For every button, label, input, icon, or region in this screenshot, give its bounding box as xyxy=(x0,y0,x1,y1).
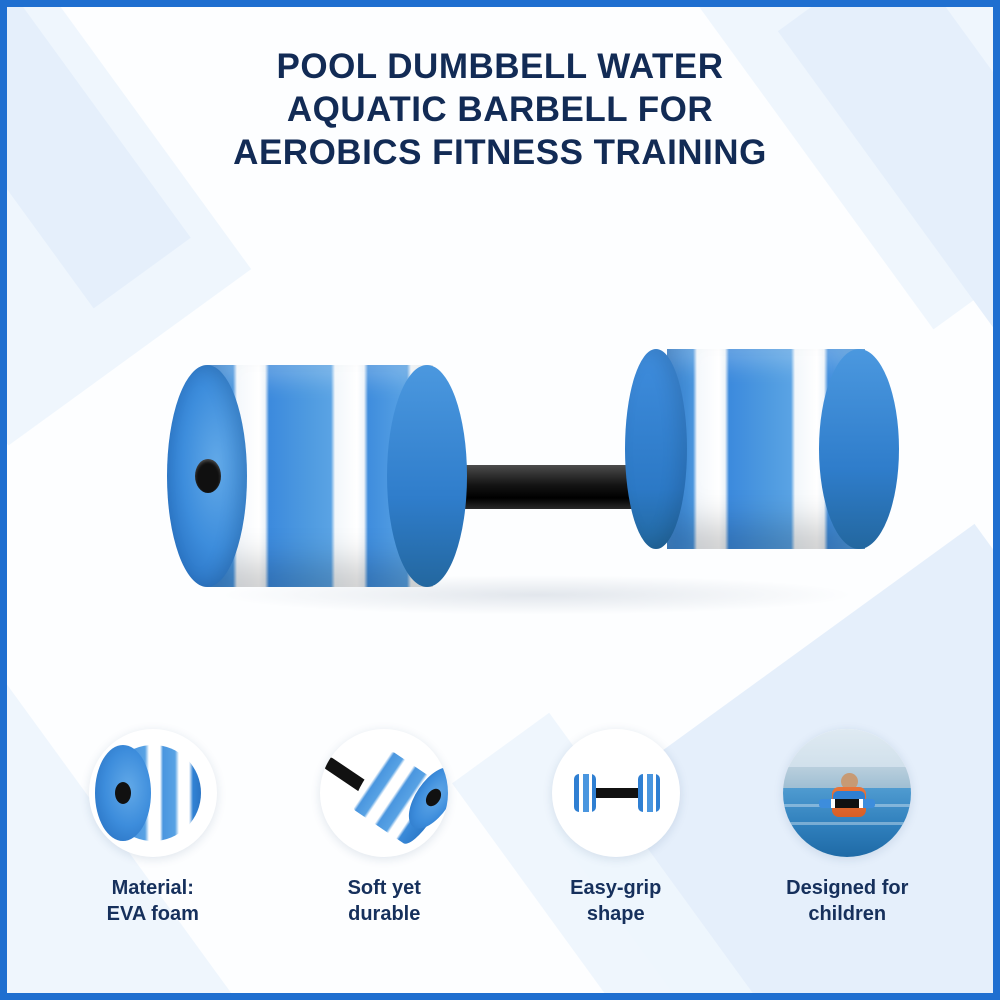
feature-caption-children: Designed for children xyxy=(786,875,908,927)
angled-dumbbell-graphic xyxy=(320,729,448,857)
caption-line-1: Designed for xyxy=(786,875,908,901)
right-weight-inner-face xyxy=(625,349,687,549)
caption-line-1: Easy-grip xyxy=(570,875,661,901)
caption-line-1: Material: xyxy=(107,875,199,901)
product-hero-image xyxy=(97,307,937,687)
caption-line-2: shape xyxy=(570,901,661,927)
feature-item-grip: Easy-grip shape xyxy=(500,729,732,959)
side-weight-right xyxy=(638,774,660,812)
foam-dumbbell-angled-icon xyxy=(320,729,448,857)
side-dumbbell-graphic xyxy=(552,729,680,857)
caption-line-2: durable xyxy=(348,901,421,927)
caption-line-2: EVA foam xyxy=(107,901,199,927)
side-weight-left xyxy=(574,774,596,812)
feature-caption-grip: Easy-grip shape xyxy=(570,875,661,927)
title-line-1: POOL DUMBBELL WATER xyxy=(7,45,993,88)
title-line-2: AQUATIC BARBELL FOR xyxy=(7,88,993,131)
feature-caption-material: Material: EVA foam xyxy=(107,875,199,927)
left-weight-hole xyxy=(195,459,221,493)
water-ripple xyxy=(783,822,911,825)
right-weight-outer-face xyxy=(819,349,899,549)
image-canvas: POOL DUMBBELL WATER AQUATIC BARBELL FOR … xyxy=(7,7,993,993)
dumbbell-left-weight xyxy=(167,365,467,587)
foam-disc-hole xyxy=(115,782,131,804)
child-in-pool-photo-icon xyxy=(783,729,911,857)
feature-item-material: Material: EVA foam xyxy=(37,729,269,959)
page-title: POOL DUMBBELL WATER AQUATIC BARBELL FOR … xyxy=(7,45,993,174)
feature-item-children: Designed for children xyxy=(732,729,964,959)
caption-line-2: children xyxy=(786,901,908,927)
feature-caption-durable: Soft yet durable xyxy=(348,875,421,927)
foam-disc-end-view-icon xyxy=(89,729,217,857)
child-holding-dumbbell xyxy=(819,799,875,808)
left-weight-inner-face xyxy=(387,365,467,587)
dumbbell-side-view-icon xyxy=(552,729,680,857)
title-line-3: AEROBICS FITNESS TRAINING xyxy=(7,131,993,174)
pool-photo-graphic xyxy=(783,729,911,857)
feature-item-durable: Soft yet durable xyxy=(269,729,501,959)
caption-line-1: Soft yet xyxy=(348,875,421,901)
dumbbell-right-weight xyxy=(627,349,899,549)
side-handle xyxy=(588,788,644,798)
feature-row: Material: EVA foam Soft yet durable xyxy=(37,729,963,959)
product-listing-image: POOL DUMBBELL WATER AQUATIC BARBELL FOR … xyxy=(0,0,1000,1000)
